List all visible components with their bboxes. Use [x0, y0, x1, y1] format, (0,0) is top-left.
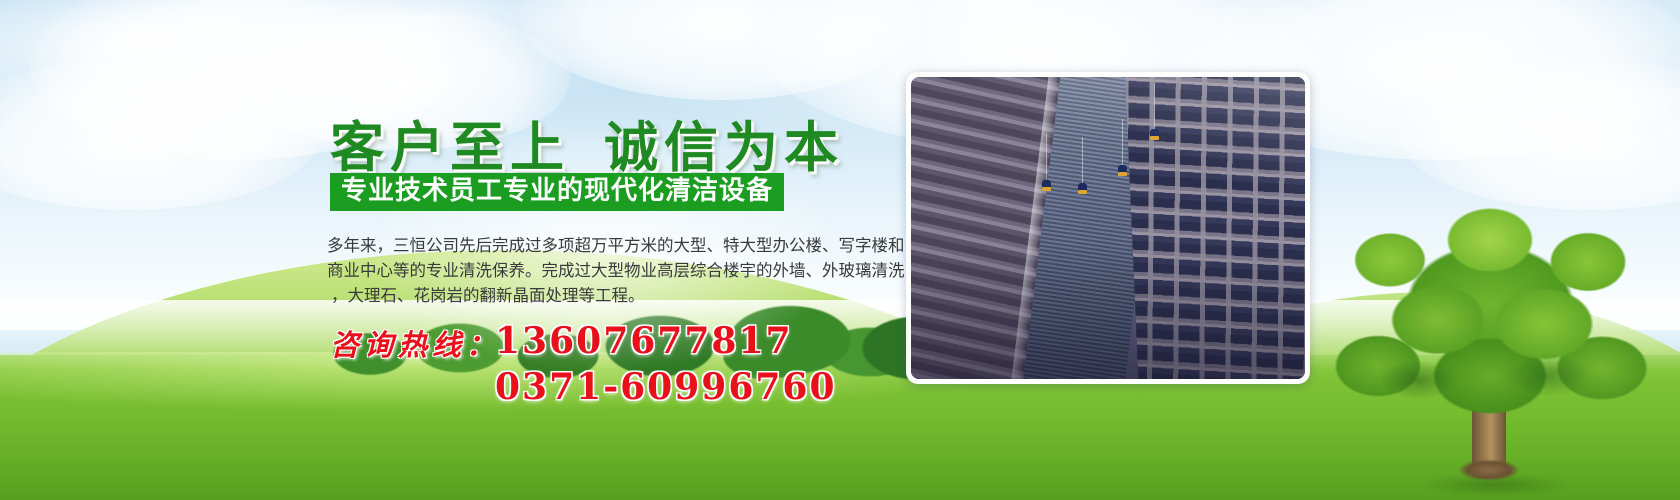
promo-banner: 客户至上诚信为本 专业技术员工专业的现代化清洁设备 多年来，三恒公司先后完成过多…: [0, 0, 1680, 500]
hotline-label: 咨询热线：: [330, 322, 500, 364]
headline: 客户至上诚信为本: [330, 103, 844, 182]
description-line-1: 多年来，三恒公司先后完成过多项超万平方米的大型、特大型办公楼、写字楼和: [327, 233, 887, 258]
subtitle-text: 专业技术员工专业的现代化清洁设备: [341, 176, 773, 206]
headline-right: 诚信为本: [604, 115, 844, 179]
phone-landline[interactable]: 0371-60996760: [495, 366, 837, 408]
description-line-3: ，大理石、花岗岩的翻新晶面处理等工程。: [327, 283, 887, 308]
banner-content: 客户至上诚信为本 专业技术员工专业的现代化清洁设备 多年来，三恒公司先后完成过多…: [0, 0, 1680, 500]
headline-left: 客户至上: [330, 115, 570, 179]
description-paragraph: 多年来，三恒公司先后完成过多项超万平方米的大型、特大型办公楼、写字楼和 商业中心…: [327, 233, 887, 308]
description-line-2: 商业中心等的专业清洗保养。完成过大型物业高层综合楼宇的外墙、外玻璃清洗: [327, 258, 887, 283]
subtitle-bar: 专业技术员工专业的现代化清洁设备: [330, 173, 784, 211]
phone-mobile[interactable]: 13607677817: [495, 320, 793, 362]
